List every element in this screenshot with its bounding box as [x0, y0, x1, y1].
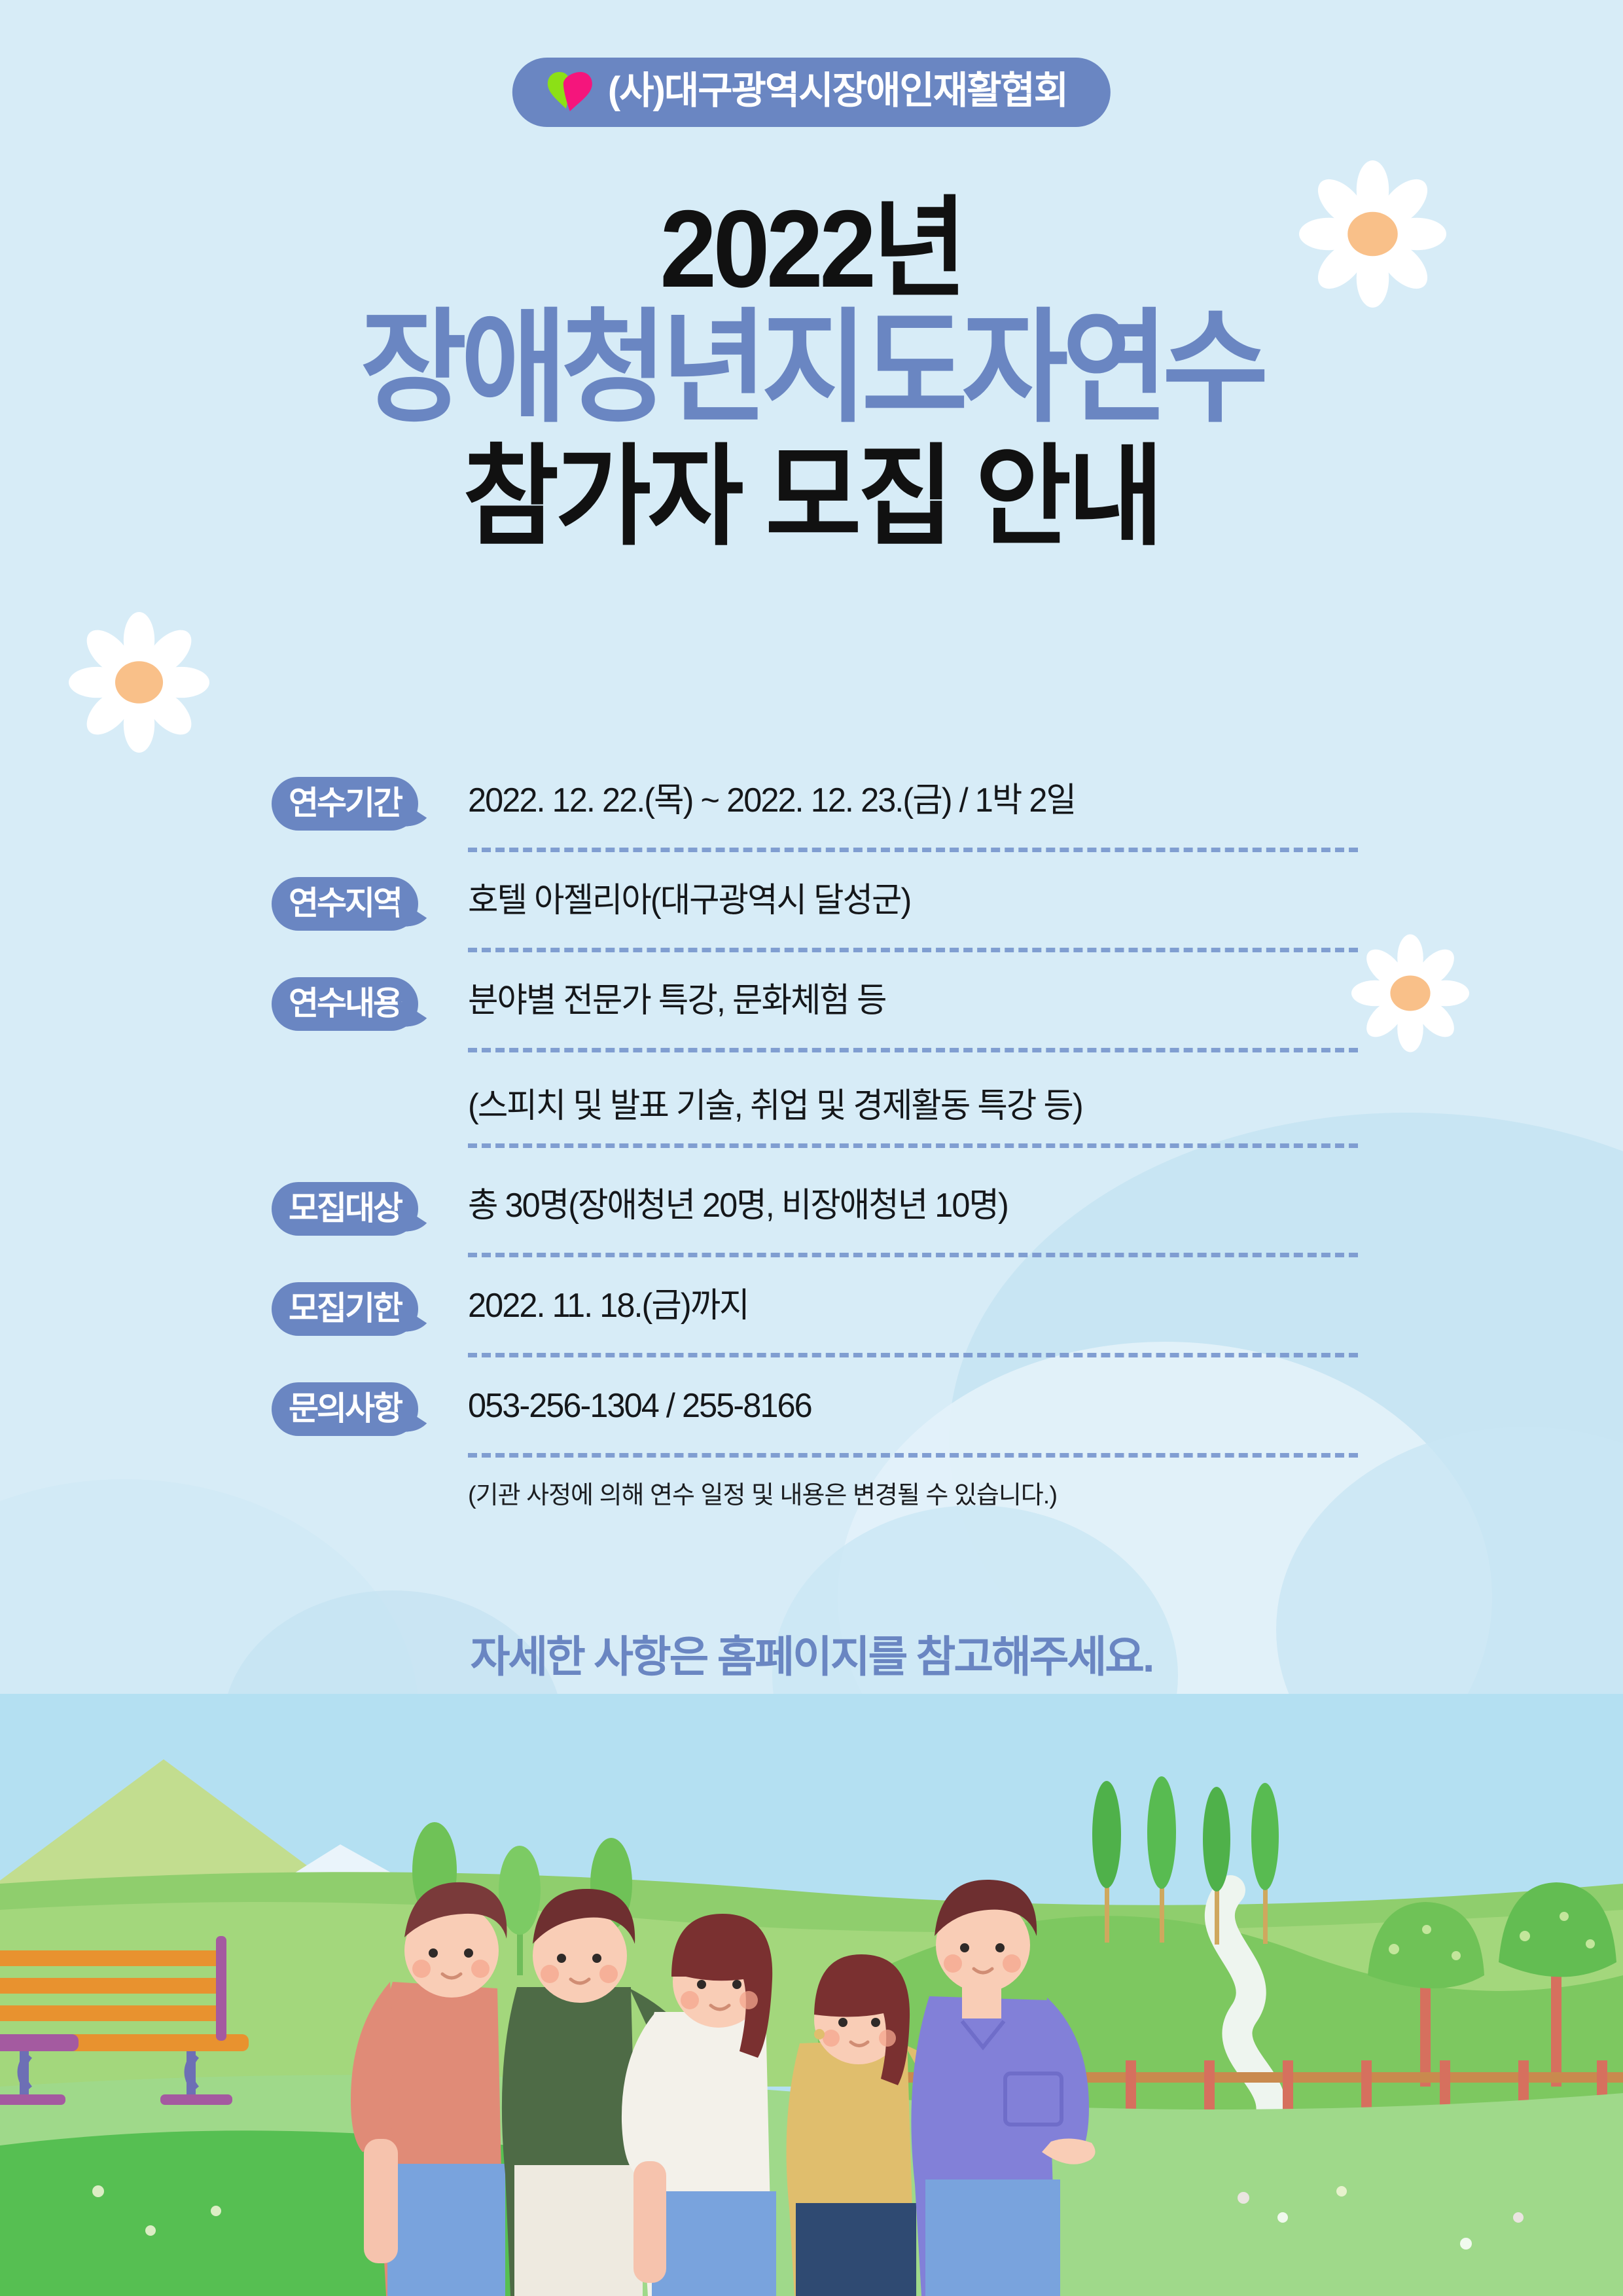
info-label-badge: 연수지역 [272, 877, 418, 931]
title-subtitle: 참가자 모집 안내 [41, 435, 1582, 558]
info-label-wrap: 연수지역 [272, 876, 468, 931]
info-row: 연수지역 호텔 아젤리아(대구광역시 달성군) [272, 876, 1384, 952]
poster-root: (사)대구광역시장애인재활협회 [0, 0, 1623, 2296]
info-value: 2022. 11. 18.(금)까지 [468, 1281, 1357, 1326]
info-label-wrap: 문의사항 [272, 1381, 468, 1436]
row-divider [468, 948, 1358, 952]
row-divider [468, 1143, 1358, 1148]
title-main: 장애청년지도자연수 [48, 304, 1574, 433]
title-year: 2022년 [57, 190, 1566, 308]
info-value: 호텔 아젤리아(대구광역시 달성군) [468, 876, 1357, 921]
info-label-wrap-empty [272, 1081, 468, 1083]
info-label-badge: 연수내용 [272, 977, 418, 1031]
poster-title-block: 2022년 장애청년지도자연수 참가자 모집 안내 [0, 190, 1623, 558]
info-label-wrap: 연수기간 [272, 776, 468, 831]
info-value: 총 30명(장애청년 20명, 비장애청년 10명) [468, 1181, 1357, 1226]
info-value: 2022. 12. 22.(목) ~ 2022. 12. 23.(금) / 1박… [468, 776, 1357, 821]
info-label-badge: 문의사항 [272, 1382, 418, 1436]
row-divider [468, 1253, 1358, 1257]
row-divider [468, 1353, 1358, 1357]
info-label-wrap: 모집대상 [272, 1181, 468, 1236]
info-row-continuation: (스피치 및 발표 기술, 취업 및 경제활동 특강 등) [272, 1081, 1384, 1148]
info-row: 연수기간 2022. 12. 22.(목) ~ 2022. 12. 23.(금)… [272, 776, 1384, 852]
info-row: 모집기한 2022. 11. 18.(금)까지 [272, 1281, 1384, 1357]
info-value: (스피치 및 발표 기술, 취업 및 경제활동 특강 등) [468, 1081, 1357, 1126]
info-label-badge: 모집대상 [272, 1182, 418, 1236]
info-label-wrap: 모집기한 [272, 1281, 468, 1336]
info-row: 문의사항 053-256-1304 / 255-8166 [272, 1381, 1384, 1458]
info-row: 연수내용 분야별 전문가 특강, 문화체험 등 [272, 976, 1384, 1052]
park-scene-illustration [0, 1694, 1623, 2296]
row-divider [468, 1048, 1358, 1052]
info-value: 053-256-1304 / 255-8166 [468, 1381, 1357, 1426]
row-divider [468, 848, 1358, 852]
info-table: 연수기간 2022. 12. 22.(목) ~ 2022. 12. 23.(금)… [272, 776, 1384, 1511]
info-label-badge: 모집기한 [272, 1282, 418, 1336]
info-value: 분야별 전문가 특강, 문화체험 등 [468, 976, 1357, 1021]
organization-badge: (사)대구광역시장애인재활협회 [512, 58, 1111, 127]
info-note: (기관 사정에 의해 연수 일정 및 내용은 변경될 수 있습니다.) [468, 1458, 1384, 1511]
info-label-wrap: 연수내용 [272, 976, 468, 1031]
row-divider [468, 1453, 1358, 1458]
info-label-badge: 연수기간 [272, 777, 418, 831]
heart-logo-icon [546, 69, 594, 113]
daisy-flower-icon [69, 605, 209, 759]
website-prompt: 자세한 사항은 홈페이지를 참고해주세요. [0, 1630, 1623, 1684]
info-row: 모집대상 총 30명(장애청년 20명, 비장애청년 10명) [272, 1181, 1384, 1257]
organization-name: (사)대구광역시장애인재활협회 [608, 72, 1067, 110]
